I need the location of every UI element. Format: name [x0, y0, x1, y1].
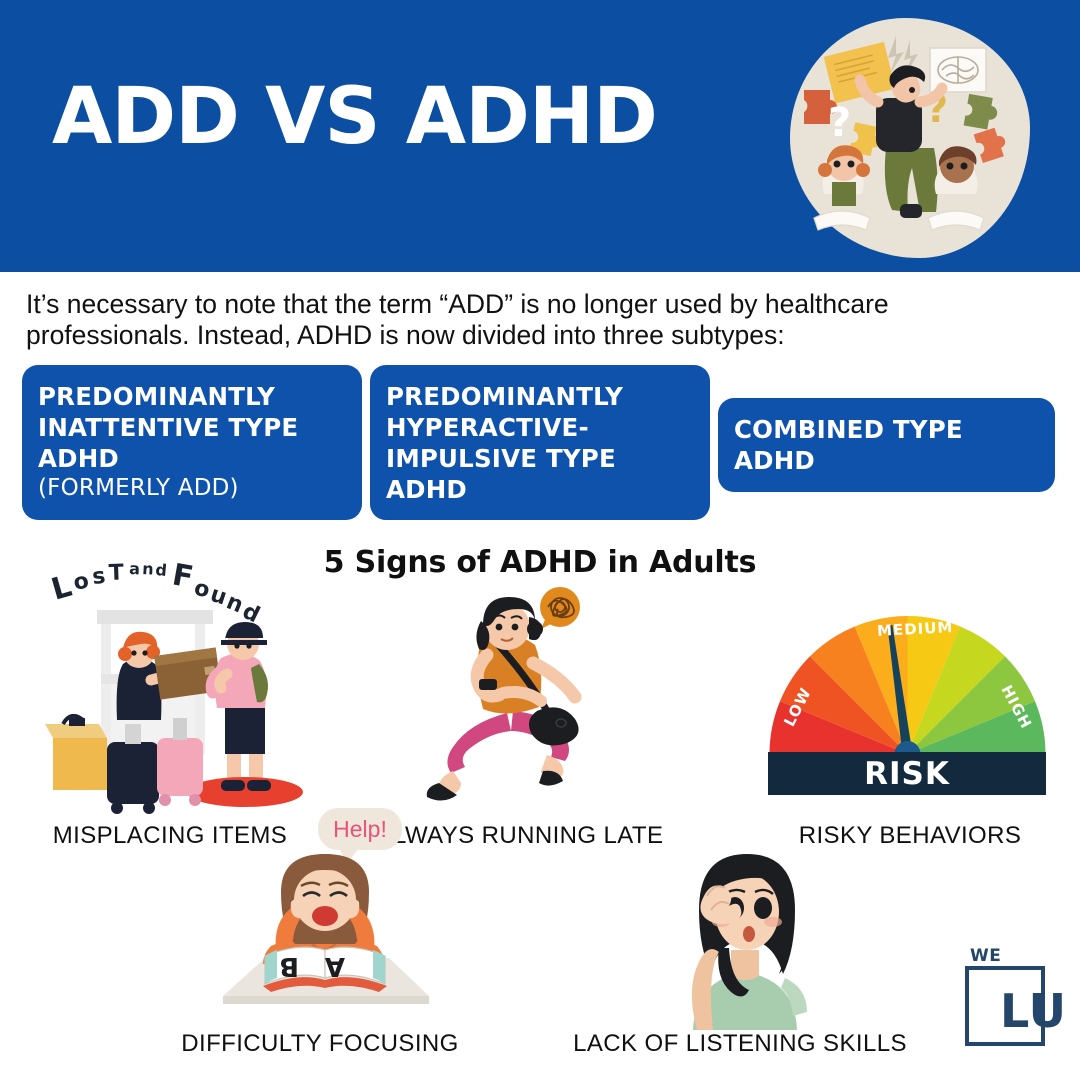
intro-paragraph: It’s necessary to note that the term “AD…: [26, 289, 1056, 351]
page-title: ADD VS ADHD: [52, 78, 657, 156]
subtype-card-line: HYPERACTIVE-: [386, 412, 696, 443]
frustrated-student-icon: B A: [215, 850, 435, 1030]
svg-text:d: d: [155, 560, 168, 580]
subtype-card-line: ADHD: [734, 445, 1041, 476]
svg-text:F: F: [170, 557, 196, 595]
subtype-card-line: IMPULSIVE TYPE: [386, 443, 696, 474]
help-speech-bubble: Help!: [318, 808, 402, 850]
lost-and-found-scene-icon: L o s T a n d F o u n d: [45, 552, 345, 822]
lack-of-listening-skills-illustration: [645, 840, 845, 1030]
subtype-card-line: INATTENTIVE TYPE: [38, 412, 348, 443]
header-banner: ADD VS ADHD: [0, 0, 1080, 272]
misplacing-items-illustration: L o s T a n d F o u n d: [45, 552, 345, 822]
svg-text:o: o: [71, 568, 91, 595]
subtype-card-line: COMBINED TYPE: [734, 414, 1041, 445]
caption-always-running-late: ALWAYS RUNNING LATE: [370, 822, 670, 850]
woman-cupping-ear-icon: [645, 840, 845, 1030]
risk-gauge-bar: RISK: [768, 752, 1046, 795]
subtype-card-hyperactive: PREDOMINANTLY HYPERACTIVE- IMPULSIVE TYP…: [370, 365, 710, 520]
book-letter-a: A: [325, 951, 345, 981]
subtype-card-combined: COMBINED TYPE ADHD: [718, 398, 1055, 492]
caption-misplacing-items: MISPLACING ITEMS: [0, 822, 340, 850]
subtype-card-line: PREDOMINANTLY: [38, 381, 348, 412]
subtype-card-inattentive: PREDOMINANTLY INATTENTIVE TYPE ADHD (FOR…: [22, 365, 362, 520]
logo-we-text: WE: [970, 946, 1001, 966]
subtype-card-note: (FORMERLY ADD): [38, 474, 348, 503]
infographic-canvas: ADD VS ADHD: [0, 0, 1080, 1080]
svg-text:a: a: [129, 559, 140, 578]
subtype-card-line: ADHD: [386, 474, 696, 505]
difficulty-focusing-illustration: B A: [215, 850, 435, 1030]
running-late-woman-icon: [395, 585, 645, 820]
risky-behaviors-illustration: LOW MEDIUM HIGH RISK: [765, 612, 1050, 807]
subtype-card-line: ADHD: [38, 443, 348, 474]
logo-lu-text: LU: [1000, 988, 1067, 1034]
confused-students-illustration-icon: ? ?: [790, 18, 1030, 258]
subtype-card-line: PREDOMINANTLY: [386, 381, 696, 412]
we-level-up-logo[interactable]: WE LU: [962, 946, 1058, 1052]
caption-lack-of-listening-skills: LACK OF LISTENING SKILLS: [560, 1030, 920, 1058]
svg-text:s: s: [91, 564, 107, 590]
svg-text:n: n: [142, 559, 154, 579]
svg-text:?: ?: [828, 100, 851, 146]
book-letter-b: B: [279, 951, 299, 981]
always-running-late-illustration: [395, 585, 645, 820]
risk-gauge-bar-label: RISK: [864, 756, 950, 792]
caption-difficulty-focusing: DIFFICULTY FOCUSING: [150, 1030, 490, 1058]
svg-text:T: T: [108, 560, 124, 586]
header-illustration: ? ?: [790, 18, 1030, 258]
